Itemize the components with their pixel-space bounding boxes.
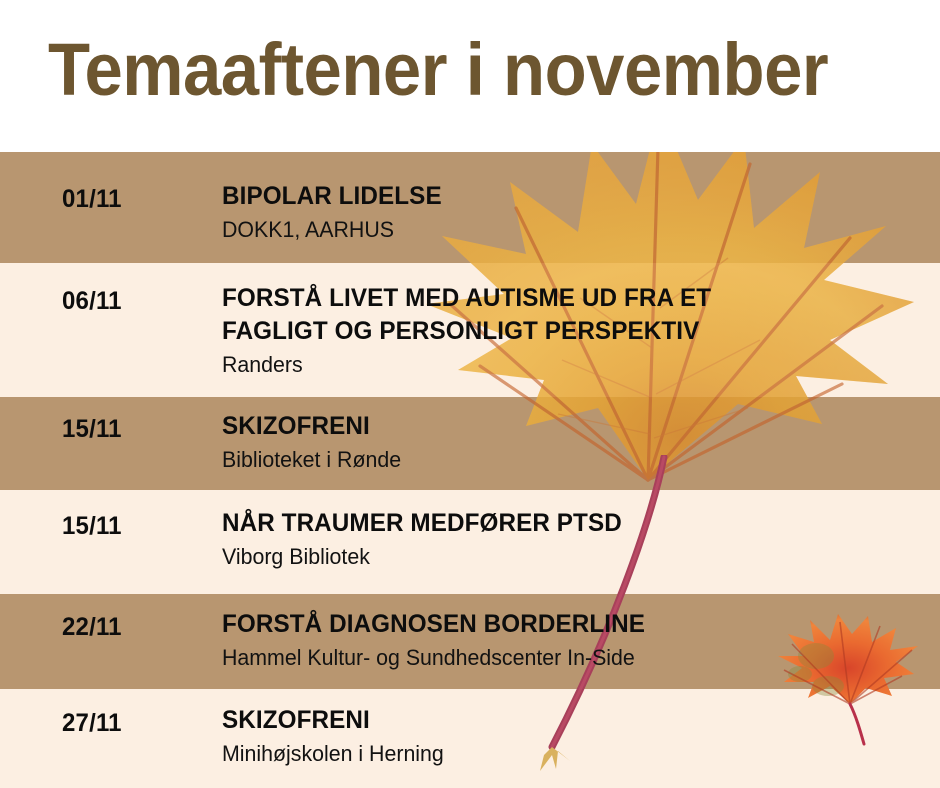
event-body: FORSTÅ DIAGNOSEN BORDERLINE Hammel Kultu…	[222, 608, 658, 673]
event-body: SKIZOFRENI Minihøjskolen i Herning	[222, 704, 451, 769]
list-item[interactable]: 01/11 BIPOLAR LIDELSE DOKK1, AARHUS	[0, 152, 940, 263]
event-place: Biblioteket i Rønde	[222, 445, 401, 475]
poster-header: Temaaftener i november	[0, 0, 940, 152]
event-body: SKIZOFRENI Biblioteket i Rønde	[222, 410, 407, 475]
event-body: NÅR TRAUMER MEDFØRER PTSD Viborg Bibliot…	[222, 507, 634, 572]
event-title: FORSTÅ DIAGNOSEN BORDERLINE	[222, 608, 645, 641]
event-title-line2: FAGLIGT OG PERSONLIGT PERSPEKTIV	[222, 315, 711, 348]
event-title: BIPOLAR LIDELSE	[222, 180, 442, 213]
event-title-line1: FORSTÅ DIAGNOSEN BORDERLINE	[222, 610, 645, 638]
event-place: Hammel Kultur- og Sundhedscenter In-Side	[222, 643, 645, 673]
event-place: Randers	[222, 350, 711, 380]
event-place: Minihøjskolen i Herning	[222, 739, 444, 769]
event-date: 15/11	[62, 415, 122, 444]
event-date: 27/11	[62, 709, 122, 738]
event-body: FORSTÅ LIVET MED AUTISME UD FRA ET FAGLI…	[222, 282, 726, 380]
event-title-line1: SKIZOFRENI	[222, 412, 370, 440]
event-date: 15/11	[62, 512, 122, 541]
event-title: NÅR TRAUMER MEDFØRER PTSD	[222, 507, 622, 540]
event-title: FORSTÅ LIVET MED AUTISME UD FRA ET FAGLI…	[222, 282, 711, 348]
list-item[interactable]: 27/11 SKIZOFRENI Minihøjskolen i Herning	[0, 689, 940, 788]
list-item[interactable]: 15/11 NÅR TRAUMER MEDFØRER PTSD Viborg B…	[0, 490, 940, 594]
event-title-line1: FORSTÅ LIVET MED AUTISME UD FRA ET	[222, 284, 711, 312]
event-date: 01/11	[62, 185, 122, 214]
event-title: SKIZOFRENI	[222, 410, 401, 443]
event-title-line1: SKIZOFRENI	[222, 706, 370, 734]
event-title-line1: BIPOLAR LIDELSE	[222, 182, 442, 210]
page-title: Temaaftener i november	[48, 28, 828, 112]
event-place: Viborg Bibliotek	[222, 542, 622, 572]
poster-canvas: Temaaftener i november 01/11 BIPOLAR LID…	[0, 0, 940, 788]
event-title: SKIZOFRENI	[222, 704, 444, 737]
list-item[interactable]: 06/11 FORSTÅ LIVET MED AUTISME UD FRA ET…	[0, 263, 940, 397]
event-place: DOKK1, AARHUS	[222, 215, 442, 245]
event-title-line1: NÅR TRAUMER MEDFØRER PTSD	[222, 509, 622, 537]
event-date: 06/11	[62, 287, 122, 316]
event-body: BIPOLAR LIDELSE DOKK1, AARHUS	[222, 180, 449, 245]
list-item[interactable]: 15/11 SKIZOFRENI Biblioteket i Rønde	[0, 397, 940, 490]
list-item[interactable]: 22/11 FORSTÅ DIAGNOSEN BORDERLINE Hammel…	[0, 594, 940, 689]
event-date: 22/11	[62, 613, 122, 642]
